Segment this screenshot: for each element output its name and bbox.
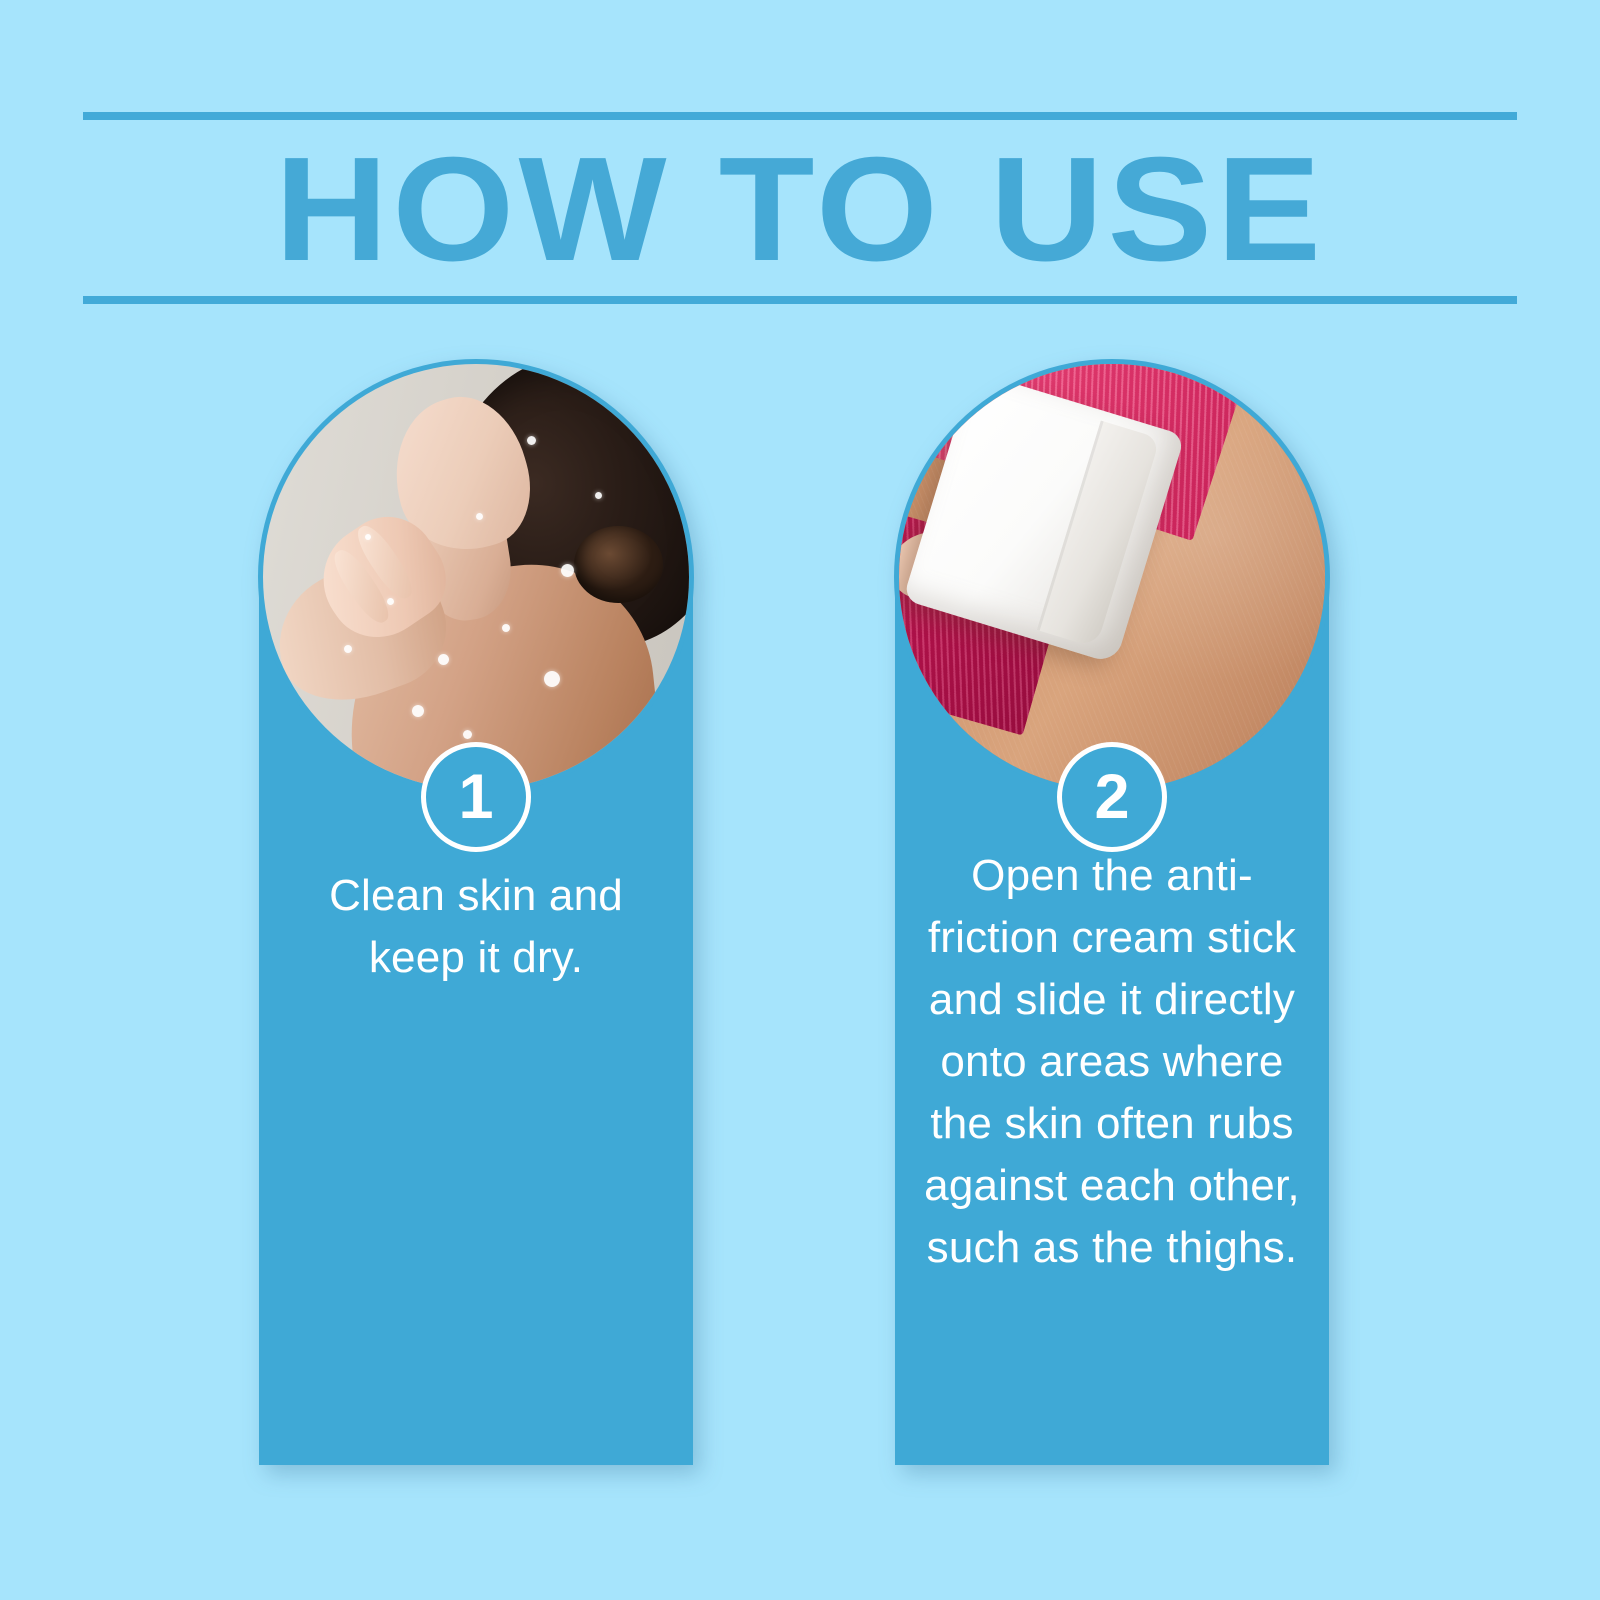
shower-illustration bbox=[263, 364, 689, 790]
header: HOW TO USE bbox=[83, 112, 1517, 304]
step-1-photo-ring bbox=[258, 359, 694, 795]
step-caption-2: Open the anti-friction cream stick and s… bbox=[917, 845, 1307, 1279]
cream-stick-photo bbox=[899, 364, 1325, 790]
step-number-badge-2: 2 bbox=[1057, 742, 1167, 852]
page-title: HOW TO USE bbox=[40, 126, 1560, 294]
step-number-badge-1: 1 bbox=[421, 742, 531, 852]
cream-stick-illustration bbox=[899, 364, 1325, 790]
water-droplets bbox=[263, 364, 689, 790]
header-rule-top bbox=[83, 112, 1517, 120]
step-caption-1: Clean skin and keep it dry. bbox=[281, 865, 671, 989]
shower-photo bbox=[263, 364, 689, 790]
step-2-photo-ring bbox=[894, 359, 1330, 795]
step-card-1: 1 Clean skin and keep it dry. bbox=[259, 575, 693, 1465]
step-card-2: 2 Open the anti-friction cream stick and… bbox=[895, 575, 1329, 1465]
header-rule-bottom bbox=[83, 296, 1517, 304]
